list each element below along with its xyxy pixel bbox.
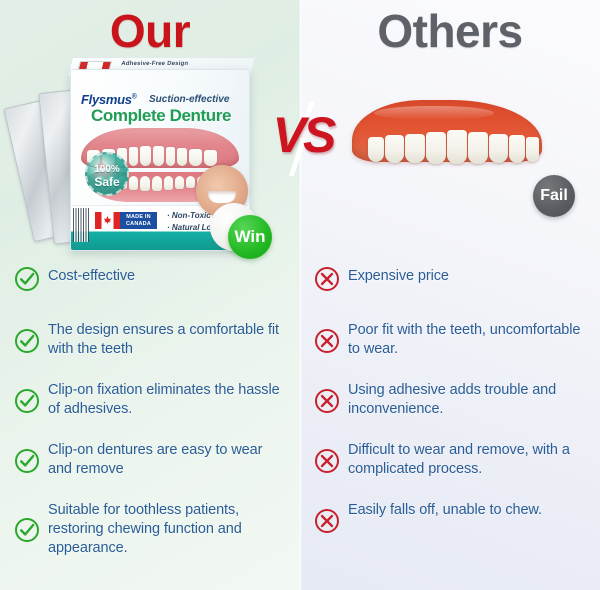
feature-item: Easily falls off, unable to chew. bbox=[300, 499, 600, 534]
tooth bbox=[140, 176, 150, 191]
tooth bbox=[447, 130, 467, 164]
feature-item: Expensive price bbox=[300, 265, 600, 299]
tooth bbox=[204, 150, 217, 166]
tooth bbox=[140, 146, 151, 166]
safety-seal-badge: 100% Safe bbox=[85, 152, 129, 196]
feature-item: Clip-on dentures are easy to wear and re… bbox=[0, 439, 300, 479]
tooth bbox=[509, 135, 525, 162]
feature-item: Cost-effective bbox=[0, 265, 300, 299]
fail-badge: Fail bbox=[533, 175, 575, 217]
feature-item: The design ensures a comfortable fit wit… bbox=[0, 319, 300, 359]
box-product-title: Complete Denture bbox=[91, 106, 231, 126]
tooth bbox=[385, 135, 404, 162]
cross-circle-icon bbox=[314, 448, 340, 474]
feature-item: Difficult to wear and remove, with a com… bbox=[300, 439, 600, 479]
canada-flag-icon bbox=[95, 212, 120, 229]
tooth bbox=[426, 132, 446, 164]
check-circle-icon bbox=[14, 517, 40, 543]
feature-item: Using adhesive adds trouble and inconven… bbox=[300, 379, 600, 419]
box-top-tagline: Adhesive-Free Design bbox=[121, 61, 189, 67]
others-column-title: Others bbox=[300, 2, 600, 60]
box-suction-label: Suction-effective bbox=[149, 94, 229, 105]
our-column-title: Our bbox=[0, 2, 300, 60]
tooth bbox=[129, 176, 138, 190]
safety-seal-word: Safe bbox=[87, 176, 127, 188]
tooth bbox=[526, 137, 539, 162]
versus-label: VS bbox=[258, 104, 348, 166]
feature-text: Clip-on fixation eliminates the hassle o… bbox=[48, 379, 290, 419]
tooth bbox=[489, 134, 508, 164]
cross-circle-icon bbox=[314, 508, 340, 534]
feature-text: Suitable for toothless patients, restori… bbox=[48, 499, 290, 558]
tooth bbox=[152, 176, 162, 191]
registered-mark-icon: ® bbox=[132, 94, 137, 101]
check-circle-icon bbox=[14, 328, 40, 354]
box-brand-name: Flysmus® bbox=[81, 92, 137, 107]
check-circle-icon bbox=[14, 266, 40, 292]
tooth bbox=[177, 148, 187, 166]
box-brand-word: Flysmus bbox=[81, 92, 132, 107]
tooth bbox=[164, 176, 173, 190]
feature-item: Suitable for toothless patients, restori… bbox=[0, 499, 300, 558]
smile-teeth bbox=[208, 191, 236, 203]
tooth bbox=[186, 176, 195, 188]
versus-mark: VS bbox=[258, 104, 348, 172]
feature-text: Difficult to wear and remove, with a com… bbox=[348, 439, 590, 479]
made-in-canada-badge: MADE IN CANADA bbox=[95, 212, 157, 229]
feature-text: Using adhesive adds trouble and inconven… bbox=[348, 379, 590, 419]
our-feature-list: Cost-effectiveThe design ensures a comfo… bbox=[0, 265, 300, 578]
feature-text: Poor fit with the teeth, uncomfortable t… bbox=[348, 319, 590, 359]
tooth bbox=[405, 134, 425, 164]
tooth bbox=[153, 146, 164, 166]
feature-text: Expensive price bbox=[348, 265, 449, 286]
cross-circle-icon bbox=[314, 266, 340, 292]
check-circle-icon bbox=[14, 388, 40, 414]
check-circle-icon bbox=[14, 448, 40, 474]
competitor-denture-photo bbox=[352, 100, 542, 200]
tooth bbox=[166, 147, 175, 166]
tooth bbox=[468, 132, 488, 164]
box-bullet-non-toxic: · Non-Toxic bbox=[167, 211, 211, 220]
comparison-infographic: Our Others Adhesive-Free Design Flysmus®… bbox=[0, 0, 600, 590]
cross-circle-icon bbox=[314, 388, 340, 414]
tooth bbox=[368, 137, 384, 162]
feature-item: Poor fit with the teeth, uncomfortable t… bbox=[300, 319, 600, 359]
feature-item: Clip-on fixation eliminates the hassle o… bbox=[0, 379, 300, 419]
win-badge: Win bbox=[228, 215, 272, 259]
feature-text: Cost-effective bbox=[48, 265, 135, 286]
made-in-label: MADE IN CANADA bbox=[120, 212, 157, 229]
tooth bbox=[189, 149, 202, 166]
feature-text: The design ensures a comfortable fit wit… bbox=[48, 319, 290, 359]
tooth bbox=[129, 147, 138, 166]
feature-text: Clip-on dentures are easy to wear and re… bbox=[48, 439, 290, 479]
feature-text: Easily falls off, unable to chew. bbox=[348, 499, 542, 520]
tooth bbox=[175, 176, 184, 189]
gum-highlight bbox=[374, 106, 494, 120]
barcode-icon bbox=[73, 208, 89, 242]
others-feature-list: Expensive pricePoor fit with the teeth, … bbox=[300, 265, 600, 554]
cross-circle-icon bbox=[314, 328, 340, 354]
